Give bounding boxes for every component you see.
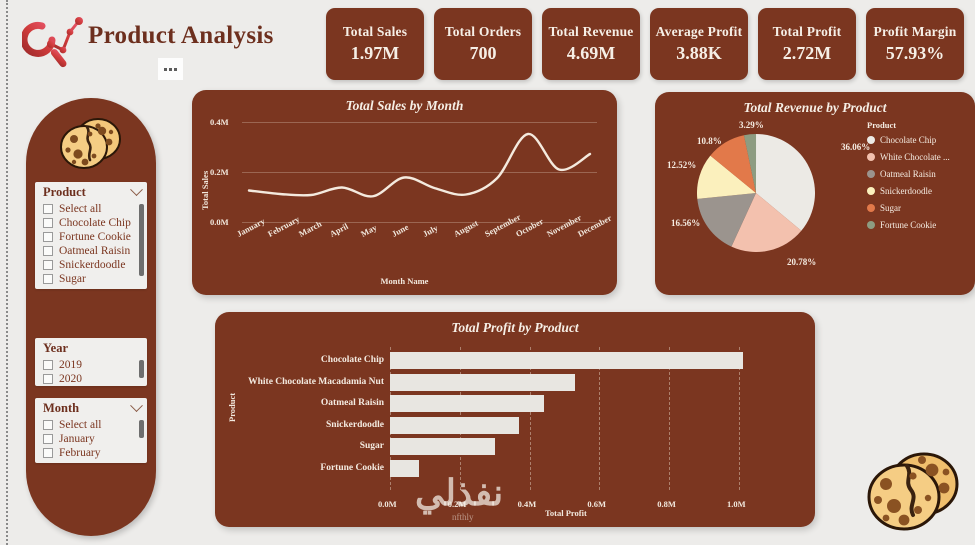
filter-option[interactable]: Select all [35, 202, 147, 216]
kpi-value: 2.72M [783, 43, 832, 64]
legend-swatch [867, 204, 875, 212]
legend-label: Sugar [880, 203, 901, 213]
x-tick-label: 0.4M [518, 499, 537, 509]
legend-item[interactable]: Snickerdoodle [867, 186, 932, 196]
filter-title: Month [43, 401, 79, 416]
legend-label: Fortune Cookie [880, 220, 936, 230]
checkbox-icon[interactable] [43, 274, 53, 284]
ellipsis-icon[interactable] [158, 58, 183, 80]
pie-slice-label: 12.52% [667, 160, 696, 170]
kpi-label: Total Sales [343, 24, 407, 40]
checkbox-icon[interactable] [43, 434, 53, 444]
checkbox-icon[interactable] [43, 232, 53, 242]
filter-option-label: Chocolate Chip [59, 217, 131, 229]
filter-option[interactable]: Sugar [35, 272, 147, 286]
chevron-down-icon[interactable] [130, 399, 143, 412]
x-tick-label: July [421, 223, 439, 239]
legend-swatch [867, 221, 875, 229]
y-tick-label: 0.2M [210, 167, 229, 177]
x-tick-label: May [359, 222, 378, 239]
checkbox-icon[interactable] [43, 420, 53, 430]
kpi-card-total-sales[interactable]: Total Sales1.97M [326, 8, 424, 80]
legend-swatch [867, 187, 875, 195]
bar[interactable] [390, 374, 575, 391]
watermark-subtext: nfthly [452, 512, 474, 522]
bar-category-label: Sugar [235, 441, 384, 451]
bar-category-label: Fortune Cookie [235, 463, 384, 473]
filter-option-label: Snickerdoodle [59, 259, 125, 271]
bar[interactable] [390, 417, 519, 434]
legend-item[interactable]: Fortune Cookie [867, 220, 936, 230]
kpi-value: 700 [470, 43, 497, 64]
chevron-down-icon[interactable] [130, 183, 143, 196]
legend-item[interactable]: Sugar [867, 203, 901, 213]
chocolate-chip-cookie-icon [858, 442, 968, 540]
legend-item[interactable]: Oatmeal Raisin [867, 169, 936, 179]
checkbox-icon[interactable] [43, 360, 53, 370]
filter-option-label: February [59, 447, 101, 459]
filter-title: Product [43, 185, 86, 200]
filter-options: Select allChocolate ChipFortune CookieOa… [35, 202, 147, 289]
filter-option[interactable]: Snickerdoodle [35, 258, 147, 272]
filter-header[interactable]: Year [35, 338, 147, 358]
pie-slice-label: 16.56% [671, 218, 700, 228]
checkbox-icon[interactable] [43, 246, 53, 256]
magnifier-chart-icon [22, 10, 88, 72]
bar-category-label: Oatmeal Raisin [235, 398, 384, 408]
filter-sidebar: ProductSelect allChocolate ChipFortune C… [26, 98, 156, 536]
filter-year[interactable]: Year20192020 [35, 338, 147, 386]
filter-option-label: 2020 [59, 373, 82, 385]
legend-label: Chocolate Chip [880, 135, 936, 145]
bar-chart-panel: Total Profit by Product Product Total Pr… [215, 312, 815, 527]
kpi-value: 1.97M [351, 43, 400, 64]
gridline [242, 122, 597, 123]
y-tick-label: 0.4M [210, 117, 229, 127]
pie-slice-label: 3.29% [739, 120, 764, 130]
kpi-label: Average Profit [656, 24, 743, 40]
page-title: Product Analysis [88, 22, 274, 50]
filter-option[interactable]: Chocolate Chip [35, 216, 147, 230]
kpi-card-profit-margin[interactable]: Profit Margin57.93% [866, 8, 964, 80]
line-chart-xlabel: Month Name [192, 276, 617, 286]
filter-option-label: Fortune Cookie [59, 231, 131, 243]
bar-category-label: Chocolate Chip [235, 355, 384, 365]
legend-swatch [867, 153, 875, 161]
legend-item[interactable]: White Chocolate ... [867, 152, 950, 162]
pie-chart-panel: Total Revenue by Product 36.06%20.78%16.… [655, 92, 975, 295]
line-chart-panel: Total Sales by Month Total Sales Month N… [192, 90, 617, 295]
filter-month[interactable]: MonthSelect allJanuaryFebruary [35, 398, 147, 463]
filter-option[interactable]: February [35, 446, 147, 460]
checkbox-icon[interactable] [43, 374, 53, 384]
bar[interactable] [390, 395, 544, 412]
pie-slice-label: 36.06% [841, 142, 870, 152]
filter-option-label: Sugar [59, 273, 86, 285]
filter-options: 20192020 [35, 358, 147, 386]
filter-option[interactable]: Select all [35, 418, 147, 432]
line-chart-title: Total Sales by Month [192, 98, 617, 114]
kpi-card-total-profit[interactable]: Total Profit2.72M [758, 8, 856, 80]
filter-option-label: Select all [59, 203, 101, 215]
filter-product[interactable]: ProductSelect allChocolate ChipFortune C… [35, 182, 147, 289]
x-tick-label: 1.0M [727, 499, 746, 509]
pie-slice-label: 10.8% [697, 136, 722, 146]
pie-slice-label: 20.78% [787, 257, 816, 267]
bar[interactable] [390, 352, 743, 369]
checkbox-icon[interactable] [43, 204, 53, 214]
bar[interactable] [390, 460, 419, 477]
kpi-value: 4.69M [567, 43, 616, 64]
filter-options: Select allJanuaryFebruary [35, 418, 147, 463]
bar-chart-title: Total Profit by Product [215, 320, 815, 336]
x-tick-label: 0.6M [587, 499, 606, 509]
checkbox-icon[interactable] [43, 260, 53, 270]
filter-scrollbar[interactable] [139, 204, 144, 276]
x-tick-label: June [390, 222, 410, 239]
gridline [242, 222, 597, 223]
legend-swatch [867, 136, 875, 144]
legend-label: White Chocolate ... [880, 152, 950, 162]
filter-option-label: Oatmeal Raisin [59, 245, 130, 257]
filter-option-label: Select all [59, 419, 101, 431]
kpi-label: Total Revenue [549, 24, 634, 40]
kpi-label: Total Orders [445, 24, 522, 40]
filter-header[interactable]: Product [35, 182, 147, 202]
legend-label: Snickerdoodle [880, 186, 932, 196]
checkbox-icon[interactable] [43, 448, 53, 458]
filter-option-label: 2019 [59, 359, 82, 371]
pie-chart-title: Total Revenue by Product [655, 100, 975, 116]
gridline [242, 172, 597, 173]
filter-title: Year [43, 341, 68, 356]
pie-chart-plot[interactable] [697, 134, 815, 252]
filter-header[interactable]: Month [35, 398, 147, 418]
bar-chart-xlabel: Total Profit [545, 508, 587, 518]
filter-scrollbar[interactable] [139, 420, 144, 438]
filter-option[interactable]: Oatmeal Raisin [35, 244, 147, 258]
legend-swatch [867, 170, 875, 178]
filter-option-label: January [59, 433, 95, 445]
x-tick-label: 0.2M [448, 499, 467, 509]
kpi-card-average-profit[interactable]: Average Profit3.88K [650, 8, 748, 80]
kpi-label: Profit Margin [874, 24, 957, 40]
pie-legend-title: Product [867, 120, 896, 130]
x-tick-label: 0.0M [378, 499, 397, 509]
filter-option[interactable]: 2019 [35, 358, 147, 372]
kpi-card-total-revenue[interactable]: Total Revenue4.69M [542, 8, 640, 80]
kpi-card-total-orders[interactable]: Total Orders700 [434, 8, 532, 80]
x-tick-label: April [328, 221, 350, 239]
legend-label: Oatmeal Raisin [880, 169, 936, 179]
filter-option[interactable]: 2020 [35, 372, 147, 386]
page-edge-divider [6, 0, 8, 545]
kpi-value: 57.93% [886, 43, 945, 64]
line-chart-ylabel: Total Sales [200, 171, 210, 210]
y-tick-label: 0.0M [210, 217, 229, 227]
legend-item[interactable]: Chocolate Chip [867, 135, 936, 145]
x-tick-label: 0.8M [657, 499, 676, 509]
bar-category-label: White Chocolate Macadamia Nut [235, 377, 384, 387]
chocolate-chip-cookie-icon [54, 112, 128, 174]
filter-option[interactable]: Fortune Cookie [35, 230, 147, 244]
dashboard-canvas: Product Analysis Total Sales1.97MTotal O… [0, 0, 975, 545]
bar-category-label: Snickerdoodle [235, 420, 384, 430]
filter-scrollbar[interactable] [139, 360, 144, 378]
bar[interactable] [390, 438, 495, 455]
checkbox-icon[interactable] [43, 218, 53, 228]
kpi-label: Total Profit [773, 24, 842, 40]
filter-option[interactable]: January [35, 432, 147, 446]
kpi-value: 3.88K [676, 43, 722, 64]
